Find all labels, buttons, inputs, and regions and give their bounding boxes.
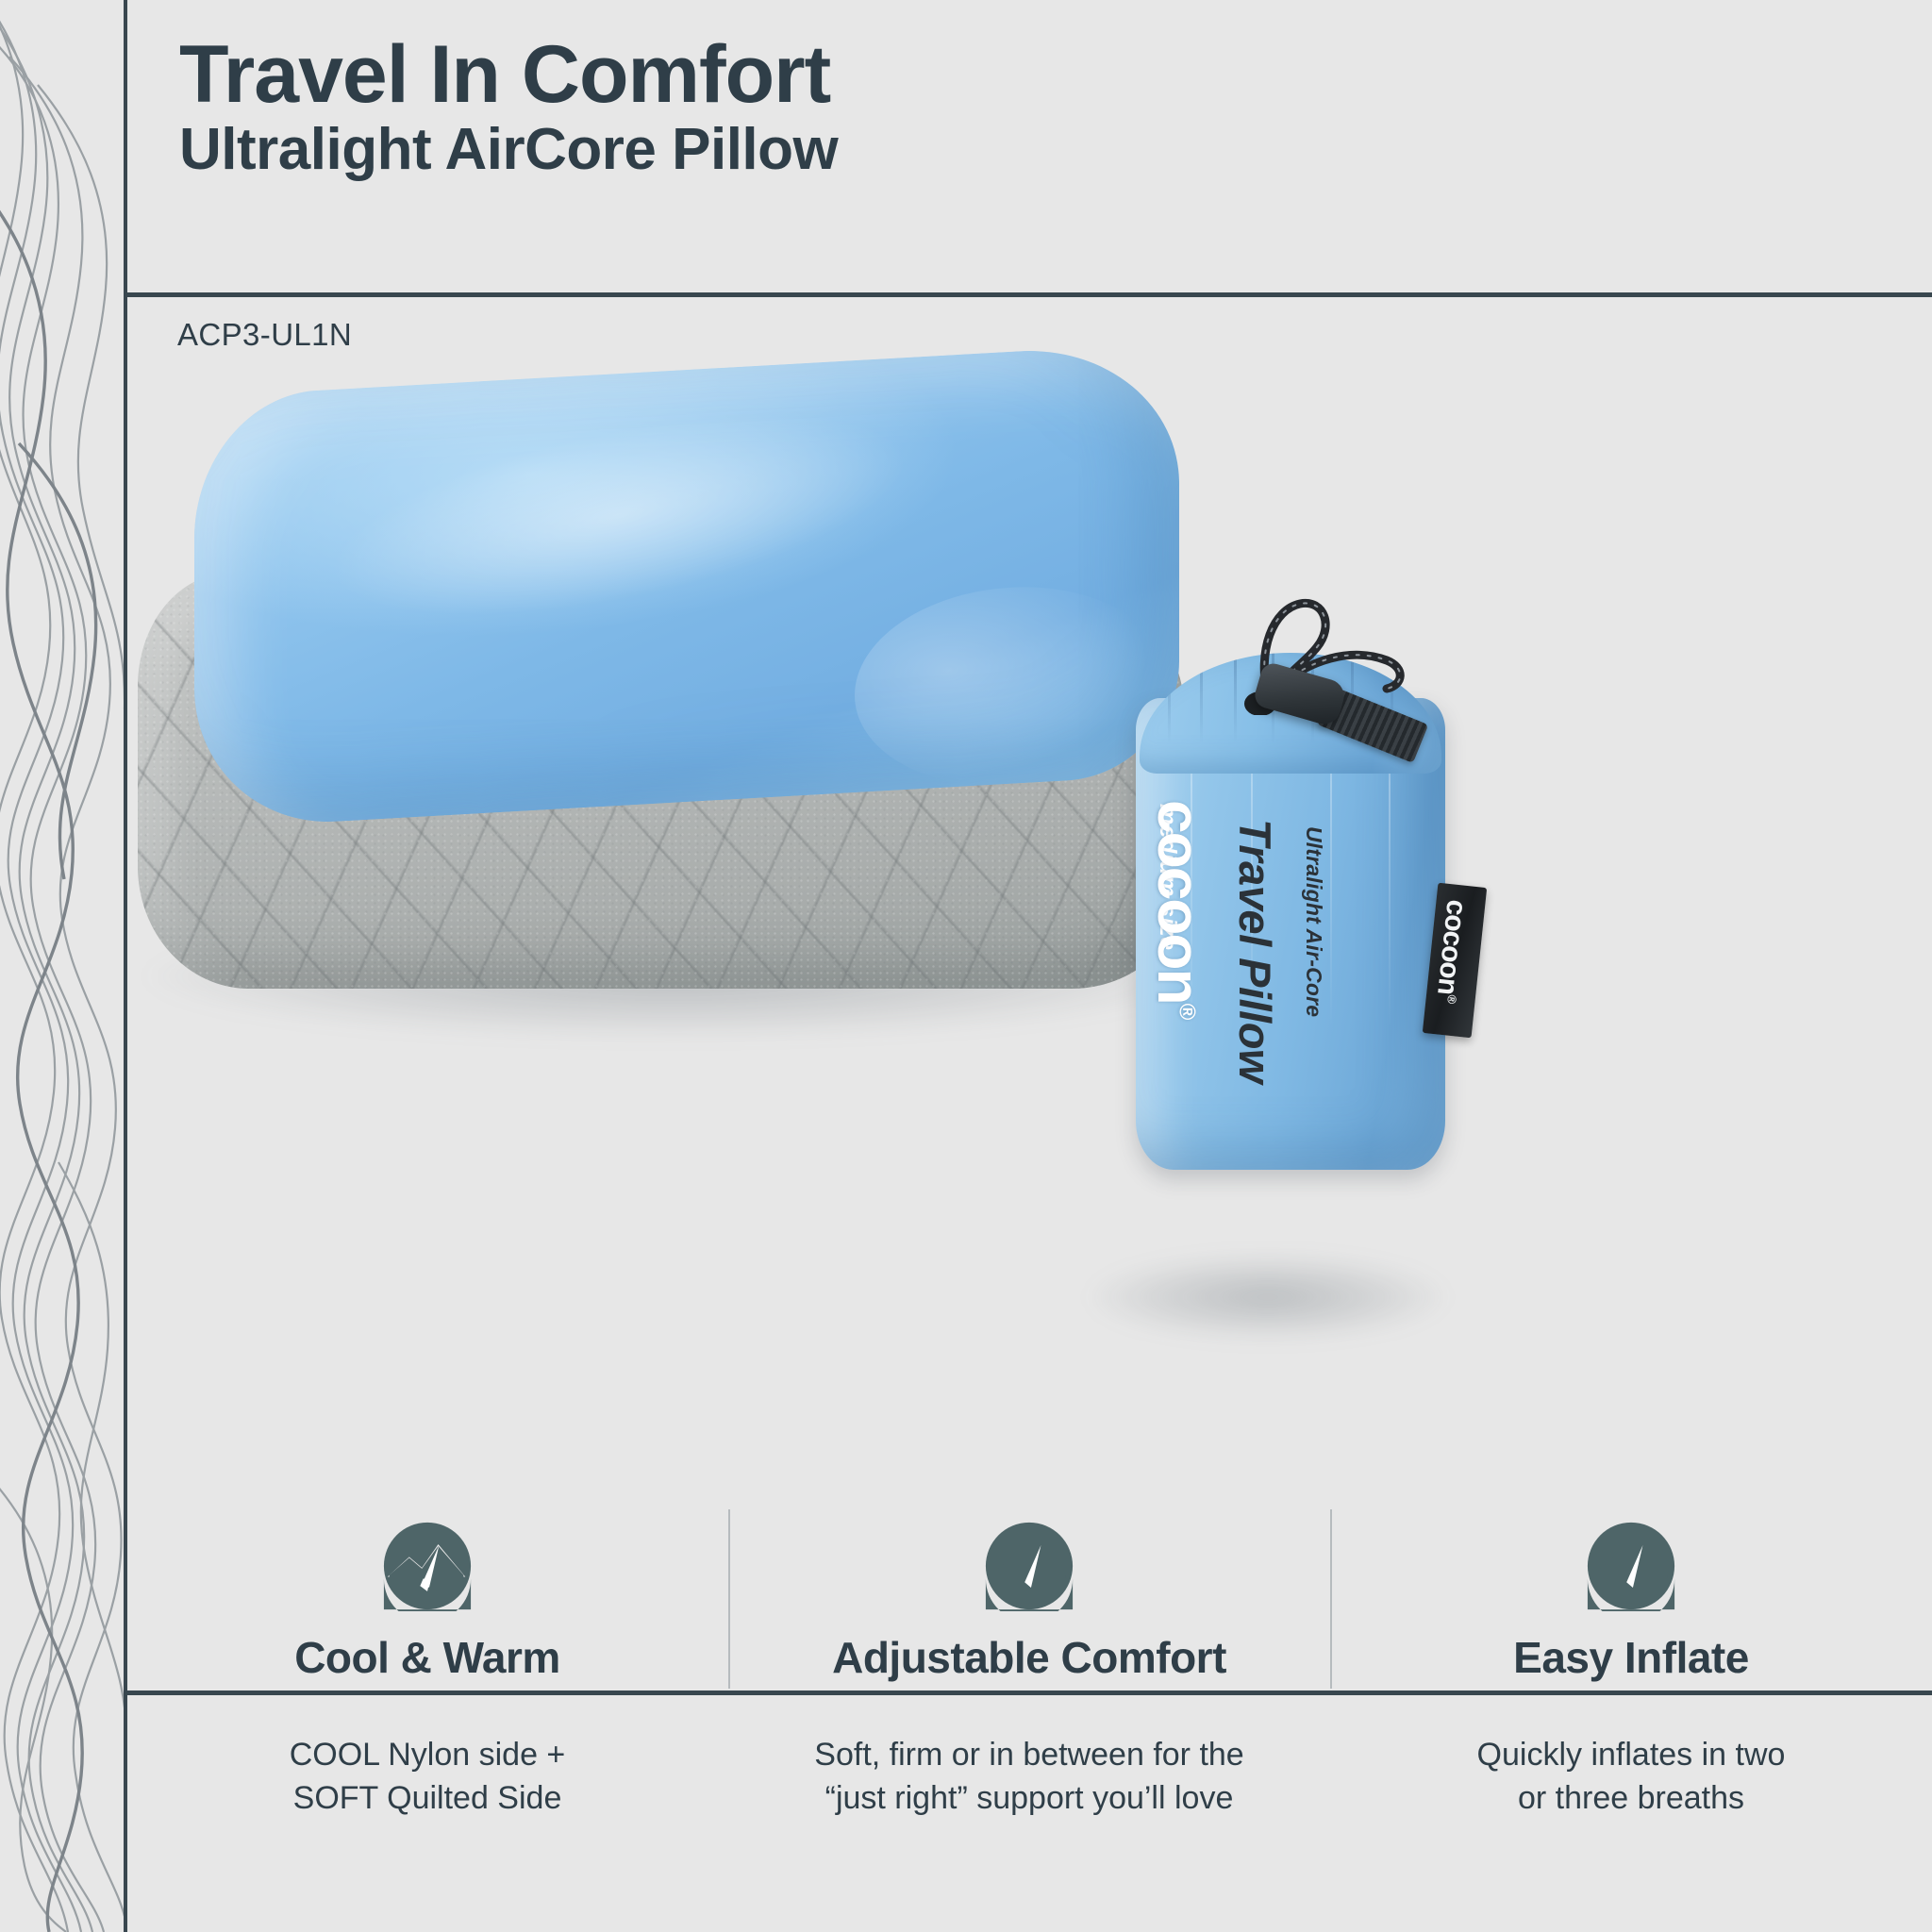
feature-description-line2: SOFT Quilted Side (293, 1780, 562, 1816)
sack-tagline-text: Ultralight Air-Core (1303, 826, 1324, 1017)
gather-pleat (1168, 653, 1171, 774)
registered-trademark-icon: ® (1174, 1004, 1199, 1019)
feature-list: Cool & Warm COOL Nylon side + SOFT Quilt… (126, 1509, 1932, 1932)
nylon-side (194, 342, 1179, 829)
feature-title: Easy Inflate (1330, 1632, 1932, 1683)
stuff-sack: medium size cocoon® Travel Pillow Ultral… (1098, 585, 1504, 1264)
feature-description-line1: COOL Nylon side + (290, 1737, 566, 1773)
feature-title: Adjustable Comfort (728, 1632, 1330, 1683)
travel-pillow (126, 349, 1240, 1028)
infographic-page: Travel In Comfort Ultralight AirCore Pil… (0, 0, 1932, 1932)
mountain-circle-icon (984, 1521, 1074, 1611)
feature-item-cool-warm: Cool & Warm COOL Nylon side + SOFT Quilt… (126, 1509, 728, 1932)
feature-description: Soft, firm or in between for the “just r… (728, 1734, 1330, 1820)
page-subtitle: Ultralight AirCore Pillow (179, 121, 838, 179)
sack-product-text: Travel Pillow (1233, 819, 1277, 1083)
nylon-highlight (317, 375, 920, 655)
feature-title: Cool & Warm (126, 1632, 728, 1683)
mountain-circle-icon (1586, 1521, 1676, 1611)
sack-brand-text: cocoon® (1149, 800, 1209, 1018)
mountain-circle-icon (382, 1521, 473, 1611)
feature-description: COOL Nylon side + SOFT Quilted Side (126, 1734, 728, 1820)
feature-description-line2: or three breaths (1518, 1780, 1744, 1816)
feature-description-line2: “just right” support you’ll love (825, 1780, 1234, 1816)
topographic-pattern-strip (0, 0, 126, 1932)
feature-item-adjustable-comfort: Adjustable Comfort Soft, firm or in betw… (728, 1509, 1330, 1932)
product-image: medium size cocoon® Travel Pillow Ultral… (126, 349, 1932, 1509)
woven-label-text: cocoon® (1429, 898, 1472, 1004)
registered-trademark-icon: ® (1444, 994, 1459, 1004)
sku-code: ACP3-UL1N (177, 317, 352, 353)
features-divider (126, 1690, 1932, 1695)
feature-description-line1: Quickly inflates in two (1477, 1737, 1786, 1773)
feature-description-line1: Soft, firm or in between for the (814, 1737, 1243, 1773)
header: Travel In Comfort Ultralight AirCore Pil… (126, 0, 1932, 294)
header-divider (126, 292, 1932, 297)
feature-item-easy-inflate: Easy Inflate Quickly inflates in two or … (1330, 1509, 1932, 1932)
stuff-sack-drop-shadow (1089, 1255, 1447, 1340)
feature-description: Quickly inflates in two or three breaths (1330, 1734, 1932, 1820)
page-title: Travel In Comfort (179, 34, 830, 115)
